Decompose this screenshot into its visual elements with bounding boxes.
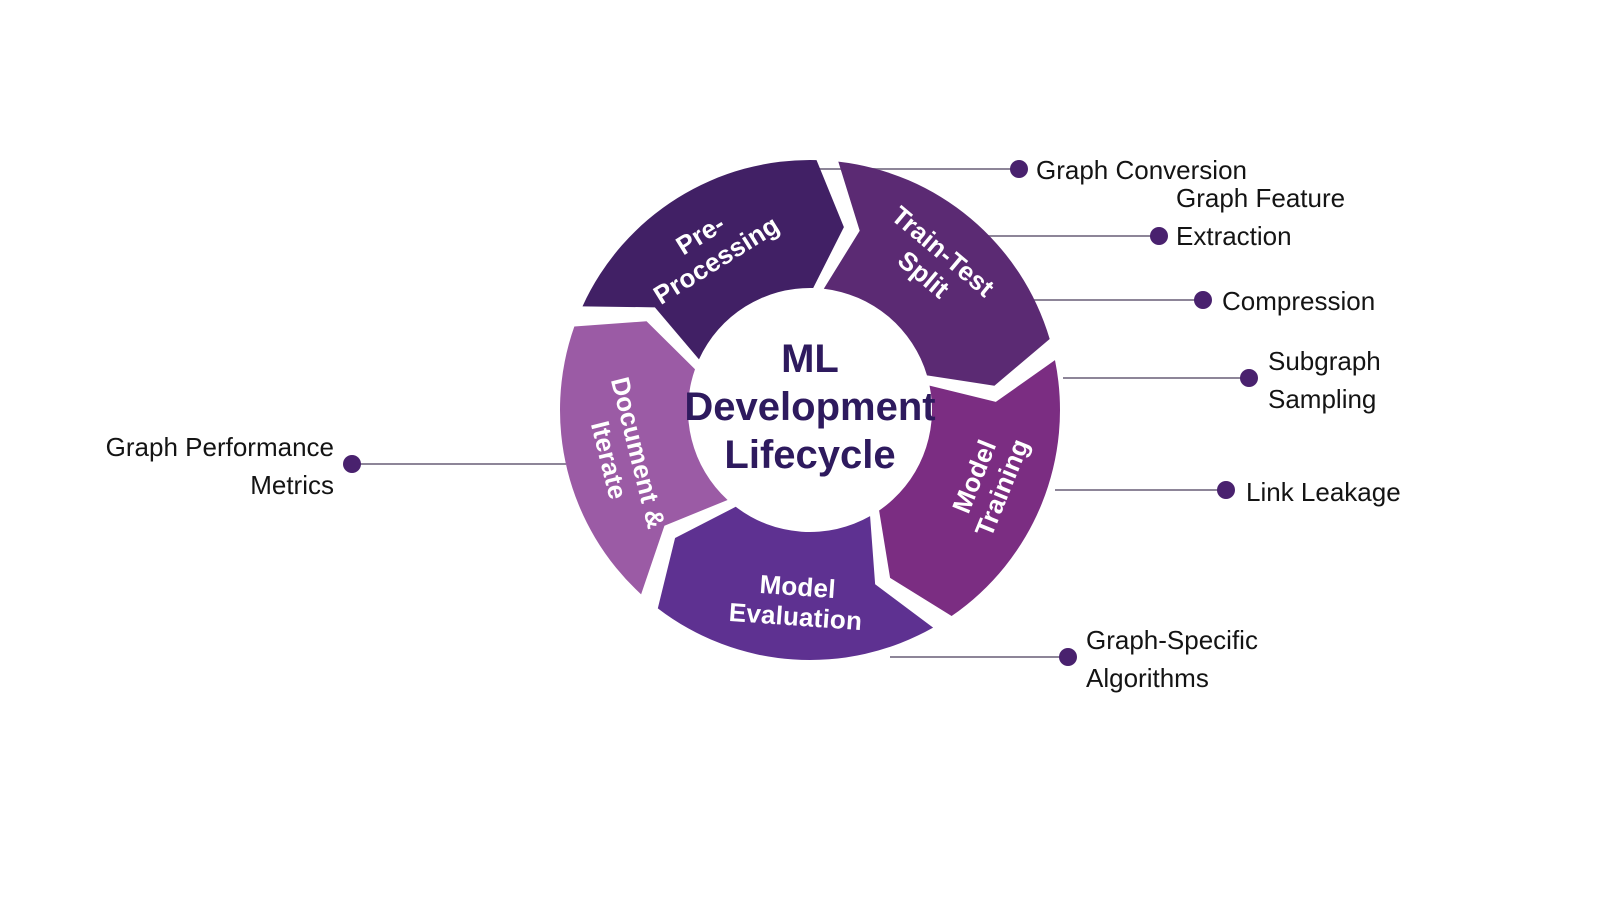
callout-label-link-leakage: Link Leakage bbox=[1246, 477, 1401, 507]
callout-dot-graph-performance-metrics[interactable] bbox=[343, 455, 361, 473]
callout-label-graph-feature-extraction: Extraction bbox=[1176, 221, 1292, 251]
callout-label-graph-conversion: Graph Conversion bbox=[1036, 155, 1247, 185]
center-hub: MLDevelopmentLifecycle bbox=[684, 291, 935, 529]
callout-dot-graph-feature-extraction[interactable] bbox=[1150, 227, 1168, 245]
callout-dot-graph-conversion[interactable] bbox=[1010, 160, 1028, 178]
callout-label-graph-performance-metrics: Graph Performance bbox=[106, 432, 334, 462]
callout-label-graph-specific-algorithms: Graph-Specific bbox=[1086, 625, 1258, 655]
center-title-line-2: Development bbox=[684, 385, 935, 429]
callout-dot-link-leakage[interactable] bbox=[1217, 481, 1235, 499]
center-title-line-1: ML bbox=[781, 337, 839, 381]
callout-dot-compression[interactable] bbox=[1194, 291, 1212, 309]
ml-lifecycle-diagram: MLDevelopmentLifecycle Pre-ProcessingTra… bbox=[0, 0, 1600, 900]
callout-label-subgraph-sampling: Sampling bbox=[1268, 384, 1376, 414]
diagram-canvas: MLDevelopmentLifecycle Pre-ProcessingTra… bbox=[0, 0, 1600, 900]
callout-dot-graph-specific-algorithms[interactable] bbox=[1059, 648, 1077, 666]
callout-label-graph-specific-algorithms: Algorithms bbox=[1086, 663, 1209, 693]
callout-label-compression: Compression bbox=[1222, 286, 1375, 316]
callout-label-graph-performance-metrics: Metrics bbox=[250, 470, 334, 500]
callout-label-subgraph-sampling: Subgraph bbox=[1268, 346, 1381, 376]
center-title-line-3: Lifecycle bbox=[724, 433, 895, 477]
callout-label-graph-feature-extraction: Graph Feature bbox=[1176, 183, 1345, 213]
callout-dot-subgraph-sampling[interactable] bbox=[1240, 369, 1258, 387]
